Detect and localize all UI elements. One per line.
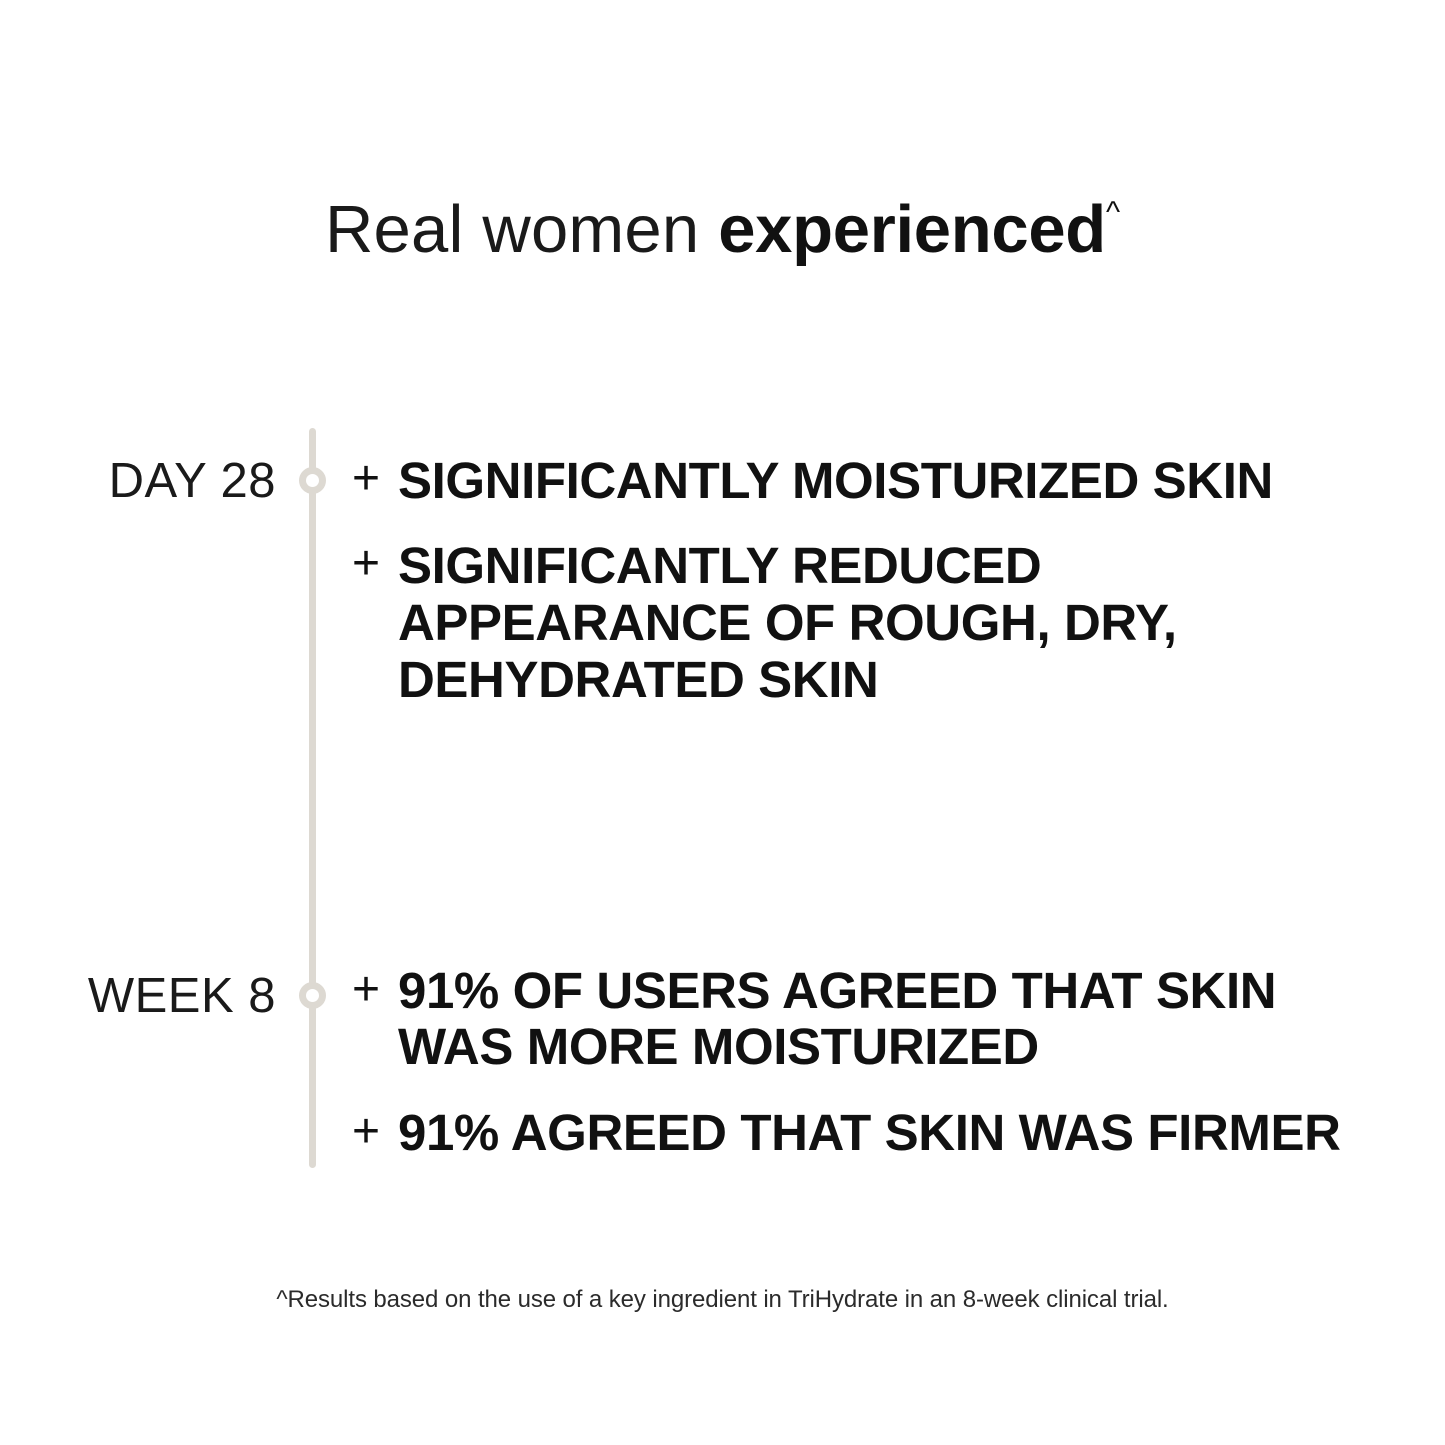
list-item-line: 91% OF USERS AGREED THAT SKIN bbox=[398, 963, 1412, 1019]
bullet-group-week-8: + 91% OF USERS AGREED THAT SKIN WAS MORE… bbox=[352, 963, 1412, 1191]
plus-icon: + bbox=[352, 537, 398, 591]
list-item-text: 91% OF USERS AGREED THAT SKIN WAS MORE M… bbox=[398, 963, 1412, 1075]
stage-label-day-28: DAY 28 bbox=[0, 457, 276, 506]
list-item: + 91% OF USERS AGREED THAT SKIN WAS MORE… bbox=[352, 963, 1412, 1075]
plus-icon: + bbox=[352, 963, 398, 1017]
list-item-line: SIGNIFICANTLY MOISTURIZED SKIN bbox=[398, 452, 1412, 509]
headline-light-text: Real women bbox=[325, 192, 718, 267]
timeline-ring-marker-day-28 bbox=[299, 467, 326, 494]
plus-icon: + bbox=[352, 1105, 398, 1159]
stage-label-week-8: WEEK 8 bbox=[0, 972, 276, 1021]
timeline-ring-marker-week-8 bbox=[299, 982, 326, 1009]
list-item: + 91% AGREED THAT SKIN WAS FIRMER bbox=[352, 1105, 1412, 1161]
footnote-text: ^Results based on the use of a key ingre… bbox=[0, 1286, 1445, 1314]
headline-footnote-marker: ^ bbox=[1106, 196, 1120, 229]
plus-icon: + bbox=[352, 452, 398, 506]
page-title: Real women experienced^ bbox=[0, 196, 1445, 263]
list-item-line: APPEARANCE OF ROUGH, DRY, bbox=[398, 594, 1412, 651]
list-item-text: SIGNIFICANTLY REDUCED APPEARANCE OF ROUG… bbox=[398, 537, 1412, 708]
bullet-group-day-28: + SIGNIFICANTLY MOISTURIZED SKIN + SIGNI… bbox=[352, 452, 1412, 708]
list-item-line: 91% AGREED THAT SKIN WAS FIRMER bbox=[398, 1105, 1412, 1161]
list-item-line: DEHYDRATED SKIN bbox=[398, 651, 1412, 708]
list-item: + SIGNIFICANTLY MOISTURIZED SKIN bbox=[352, 452, 1412, 509]
list-item: + SIGNIFICANTLY REDUCED APPEARANCE OF RO… bbox=[352, 537, 1412, 708]
list-item-text: SIGNIFICANTLY MOISTURIZED SKIN bbox=[398, 452, 1412, 509]
list-item-line: SIGNIFICANTLY REDUCED bbox=[398, 537, 1412, 594]
list-item-text: 91% AGREED THAT SKIN WAS FIRMER bbox=[398, 1105, 1412, 1161]
timeline-line bbox=[309, 428, 316, 1168]
headline-bold-text: experienced bbox=[718, 192, 1106, 267]
list-item-line: WAS MORE MOISTURIZED bbox=[398, 1019, 1412, 1075]
